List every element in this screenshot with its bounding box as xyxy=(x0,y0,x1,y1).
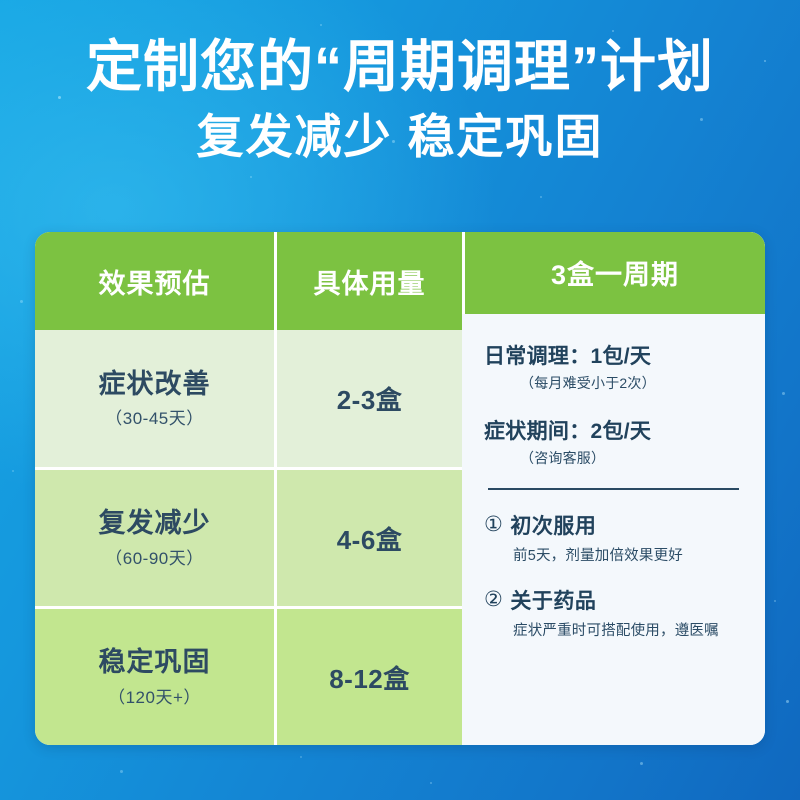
usage-line-daily: 日常调理： 1包/天 （每月难受小于2次） xyxy=(484,340,743,393)
note-item: ② 关于药品 症状严重时可搭配使用，遵医嘱 xyxy=(484,585,743,640)
circled-number-one-icon: ① xyxy=(484,512,503,537)
table-right-column: 3盒一周期 日常调理： 1包/天 （每月难受小于2次） 症状期间： 2包/天 xyxy=(462,232,765,745)
table-row: 稳定巩固 （120天+） 8-12盒 xyxy=(35,609,462,745)
table-header-left: 效果预估 具体用量 xyxy=(35,232,462,330)
note-description: 症状严重时可搭配使用，遵医嘱 xyxy=(513,619,743,640)
effect-cell: 复发减少 （60-90天） xyxy=(35,470,277,606)
dosage-table-card: 效果预估 具体用量 症状改善 （30-45天） 2-3盒 复发减少 （60-90… xyxy=(35,232,765,745)
effect-cell: 稳定巩固 （120天+） xyxy=(35,609,277,745)
usage-spacer xyxy=(484,393,743,415)
note-item: ① 初次服用 前5天，剂量加倍效果更好 xyxy=(484,510,743,565)
page-title: 定制您的“周期调理”计划 xyxy=(0,36,800,99)
page-subtitle: 复发减少 稳定巩固 xyxy=(0,111,800,164)
usage-panel: 日常调理： 1包/天 （每月难受小于2次） 症状期间： 2包/天 （咨询客服） xyxy=(462,314,765,745)
circled-number-two-icon: ② xyxy=(484,587,503,612)
usage-symptom-label: 症状期间： xyxy=(484,415,591,445)
column-header-effect: 效果预估 xyxy=(35,232,277,330)
dosage-cell: 8-12盒 xyxy=(277,609,462,745)
note-title-text: 初次服用 xyxy=(510,510,596,540)
poster-root: 定制您的“周期调理”计划 复发减少 稳定巩固 效果预估 具体用量 症状改善 （3… xyxy=(0,0,800,800)
usage-symptom-value: 2包/天 xyxy=(591,415,652,445)
effect-cell: 症状改善 （30-45天） xyxy=(35,330,277,467)
usage-daily-note: （每月难受小于2次） xyxy=(520,373,743,393)
effect-period: （120天+） xyxy=(108,683,201,708)
effect-period: （60-90天） xyxy=(105,544,203,569)
dosage-cell: 2-3盒 xyxy=(277,330,462,467)
section-divider xyxy=(488,488,739,490)
effect-name: 症状改善 xyxy=(99,368,211,400)
column-header-dosage: 具体用量 xyxy=(277,232,462,330)
usage-daily-value: 1包/天 xyxy=(591,340,652,370)
usage-daily-label: 日常调理： xyxy=(484,340,591,370)
dosage-cell: 4-6盒 xyxy=(277,470,462,606)
table-left-columns: 效果预估 具体用量 症状改善 （30-45天） 2-3盒 复发减少 （60-90… xyxy=(35,232,462,745)
table-row: 症状改善 （30-45天） 2-3盒 xyxy=(35,330,462,470)
column-header-cycle: 3盒一周期 xyxy=(462,232,765,314)
effect-name: 稳定巩固 xyxy=(99,646,211,678)
usage-line-symptom: 症状期间： 2包/天 （咨询客服） xyxy=(484,415,743,468)
usage-symptom-note: （咨询客服） xyxy=(520,448,743,468)
poster-heading-group: 定制您的“周期调理”计划 复发减少 稳定巩固 xyxy=(0,36,800,163)
table-row: 复发减少 （60-90天） 4-6盒 xyxy=(35,470,462,609)
effect-period: （30-45天） xyxy=(105,404,203,429)
table-header-right: 3盒一周期 xyxy=(462,232,765,314)
effect-name: 复发减少 xyxy=(99,507,211,539)
note-description: 前5天，剂量加倍效果更好 xyxy=(513,544,743,565)
note-title-text: 关于药品 xyxy=(510,585,596,615)
